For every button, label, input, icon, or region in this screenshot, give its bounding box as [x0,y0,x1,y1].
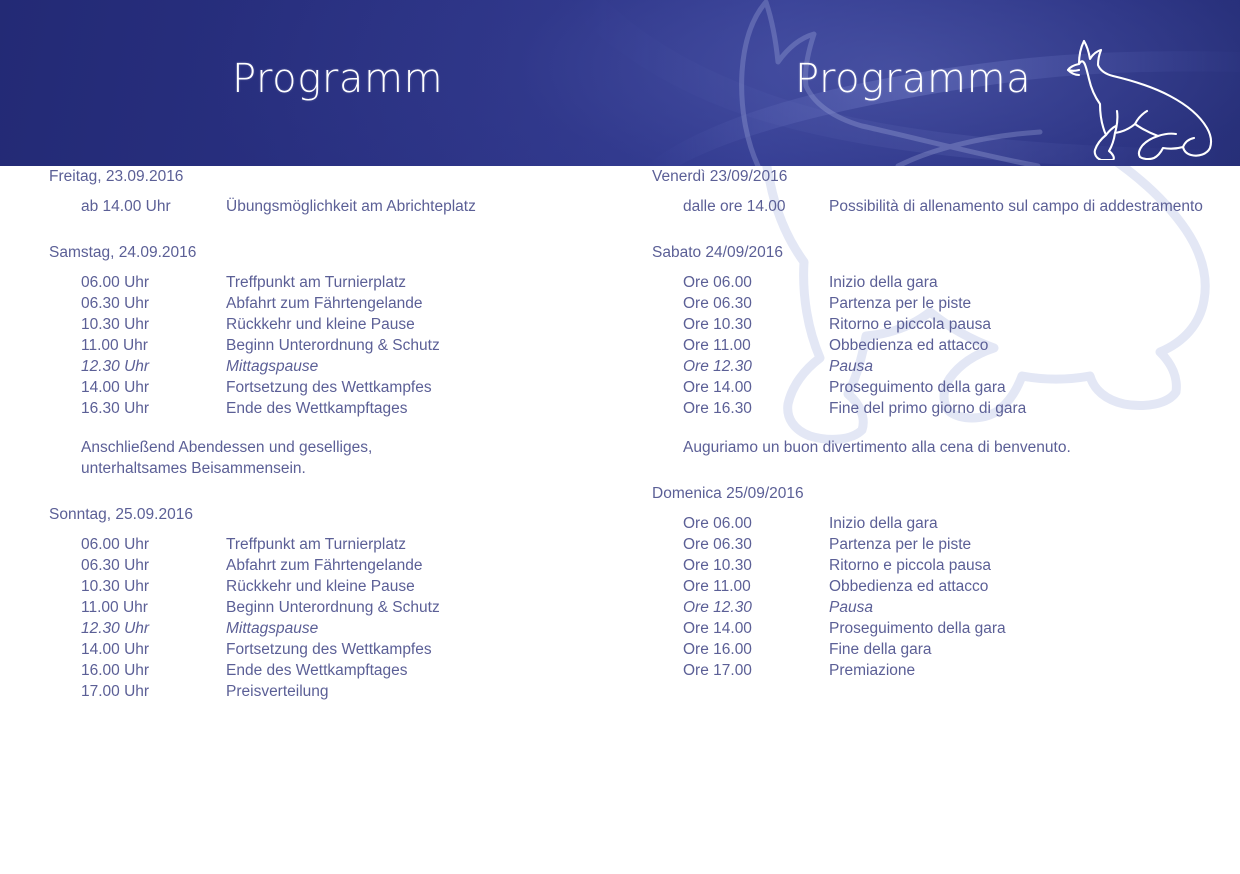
schedule-row-time: 12.30 Uhr [81,618,226,639]
schedule-row-time: 10.30 Uhr [81,576,226,597]
schedule-row: Ore 14.00Proseguimento della gara [652,618,1232,639]
schedule-row: Ore 06.30Partenza per le piste [652,534,1232,555]
schedule-row: Ore 06.30Partenza per le piste [652,293,1232,314]
german-saturday-rows: 06.00 UhrTreffpunkt am Turnierplatz06.30… [49,272,639,419]
schedule-row-description: Obbedienza ed attacco [829,576,1232,597]
german-shepherd-dog-icon [1046,38,1214,160]
german-friday-block: Freitag, 23.09.2016 ab 14.00 UhrÜbungsmö… [49,166,639,217]
schedule-row-time: 06.00 Uhr [81,272,226,293]
page-title-italian: Programma [795,56,1031,102]
german-sunday-heading: Sonntag, 25.09.2016 [49,504,639,525]
german-saturday-heading: Samstag, 24.09.2016 [49,242,639,263]
schedule-row-time: Ore 10.30 [683,555,829,576]
italian-friday-rows: dalle ore 14.00Possibilità di allenament… [652,196,1232,217]
italian-saturday-heading: Sabato 24/09/2016 [652,242,1232,263]
schedule-row-description: Pausa [829,597,1232,618]
schedule-row: 11.00 UhrBeginn Unterordnung & Schutz [49,597,639,618]
schedule-row-time: Ore 16.30 [683,398,829,419]
spacer [49,217,639,242]
program-content: Freitag, 23.09.2016 ab 14.00 UhrÜbungsmö… [0,166,1240,874]
schedule-row: 14.00 UhrFortsetzung des Wettkampfes [49,377,639,398]
schedule-row-description: Obbedienza ed attacco [829,335,1232,356]
schedule-row: dalle ore 14.00Possibilità di allenament… [652,196,1232,217]
schedule-row-description: Partenza per le piste [829,293,1232,314]
schedule-row: Ore 12.30Pausa [652,356,1232,377]
schedule-row-description: Mittagspause [226,356,639,377]
schedule-row-time: 06.00 Uhr [81,534,226,555]
schedule-row-description: Rückkehr und kleine Pause [226,576,639,597]
schedule-row-description: Abfahrt zum Fährtengelande [226,293,639,314]
schedule-row-time: Ore 12.30 [683,597,829,618]
schedule-row-description: Proseguimento della gara [829,618,1232,639]
schedule-row: Ore 06.00Inizio della gara [652,272,1232,293]
schedule-row: 12.30 UhrMittagspause [49,618,639,639]
schedule-row: Ore 10.30Ritorno e piccola pausa [652,314,1232,335]
schedule-row: 06.00 UhrTreffpunkt am Turnierplatz [49,534,639,555]
schedule-row-description: Rückkehr und kleine Pause [226,314,639,335]
schedule-row-time: Ore 06.00 [683,272,829,293]
schedule-row: Ore 11.00Obbedienza ed attacco [652,576,1232,597]
schedule-row: 12.30 UhrMittagspause [49,356,639,377]
schedule-row: 11.00 UhrBeginn Unterordnung & Schutz [49,335,639,356]
schedule-row-time: Ore 11.00 [683,576,829,597]
italian-saturday-block: Sabato 24/09/2016 Ore 06.00Inizio della … [652,242,1232,458]
schedule-row: Ore 11.00Obbedienza ed attacco [652,335,1232,356]
schedule-row-description: Fortsetzung des Wettkampfes [226,377,639,398]
schedule-row-description: Beginn Unterordnung & Schutz [226,597,639,618]
schedule-row-description: Treffpunkt am Turnierplatz [226,534,639,555]
schedule-row-description: Ritorno e piccola pausa [829,555,1232,576]
schedule-row-time: 06.30 Uhr [81,293,226,314]
schedule-row-time: Ore 16.00 [683,639,829,660]
schedule-row: 14.00 UhrFortsetzung des Wettkampfes [49,639,639,660]
schedule-row-time: Ore 14.00 [683,377,829,398]
german-saturday-note: Anschließend Abendessen und geselliges, … [81,437,421,479]
schedule-row-time: 11.00 Uhr [81,597,226,618]
spacer [652,419,1232,437]
spacer [49,419,639,437]
schedule-row-description: Premiazione [829,660,1232,681]
italian-friday-block: Venerdì 23/09/2016 dalle ore 14.00Possib… [652,166,1232,217]
schedule-row-time: Ore 17.00 [683,660,829,681]
schedule-row-time: 11.00 Uhr [81,335,226,356]
banner-dog-watermark-icon [0,0,1240,166]
schedule-row-description: Preisverteilung [226,681,639,702]
italian-saturday-note: Auguriamo un buon divertimento alla cena… [683,437,1232,458]
italian-saturday-rows: Ore 06.00Inizio della garaOre 06.30Parte… [652,272,1232,419]
schedule-row: 10.30 UhrRückkehr und kleine Pause [49,314,639,335]
schedule-row-time: 10.30 Uhr [81,314,226,335]
schedule-row-time: dalle ore 14.00 [683,196,829,217]
german-sunday-rows: 06.00 UhrTreffpunkt am Turnierplatz06.30… [49,534,639,702]
program-column-italian: Venerdì 23/09/2016 dalle ore 14.00Possib… [652,166,1232,681]
schedule-row: Ore 16.30Fine del primo giorno di gara [652,398,1232,419]
schedule-row: Ore 12.30Pausa [652,597,1232,618]
schedule-row-time: Ore 06.30 [683,534,829,555]
schedule-row-description: Beginn Unterordnung & Schutz [226,335,639,356]
schedule-row-time: ab 14.00 Uhr [81,196,226,217]
german-sunday-block: Sonntag, 25.09.2016 06.00 UhrTreffpunkt … [49,504,639,702]
schedule-row-time: Ore 12.30 [683,356,829,377]
german-saturday-block: Samstag, 24.09.2016 06.00 UhrTreffpunkt … [49,242,639,479]
schedule-row: Ore 14.00Proseguimento della gara [652,377,1232,398]
schedule-row-description: Abfahrt zum Fährtengelande [226,555,639,576]
spacer [49,479,639,504]
schedule-row-description: Fine del primo giorno di gara [829,398,1232,419]
schedule-row-time: Ore 10.30 [683,314,829,335]
schedule-row: Ore 06.00Inizio della gara [652,513,1232,534]
schedule-row: Ore 16.00Fine della gara [652,639,1232,660]
italian-friday-heading: Venerdì 23/09/2016 [652,166,1232,187]
page-title-german: Programm [232,56,443,102]
schedule-row: Ore 17.00Premiazione [652,660,1232,681]
schedule-row-time: 17.00 Uhr [81,681,226,702]
german-friday-rows: ab 14.00 UhrÜbungsmöglichkeit am Abricht… [49,196,639,217]
schedule-row: Ore 10.30Ritorno e piccola pausa [652,555,1232,576]
schedule-row-description: Ende des Wettkampftages [226,398,639,419]
schedule-row-description: Ritorno e piccola pausa [829,314,1232,335]
schedule-row-time: 16.30 Uhr [81,398,226,419]
schedule-row: 06.00 UhrTreffpunkt am Turnierplatz [49,272,639,293]
schedule-row-description: Inizio della gara [829,272,1232,293]
schedule-row-time: 12.30 Uhr [81,356,226,377]
spacer [652,217,1232,242]
schedule-row: ab 14.00 UhrÜbungsmöglichkeit am Abricht… [49,196,639,217]
german-friday-heading: Freitag, 23.09.2016 [49,166,639,187]
schedule-row-time: 14.00 Uhr [81,377,226,398]
schedule-row: 06.30 UhrAbfahrt zum Fährtengelande [49,293,639,314]
schedule-row-description: Fortsetzung des Wettkampfes [226,639,639,660]
schedule-row-time: Ore 06.00 [683,513,829,534]
schedule-row-description: Proseguimento della gara [829,377,1232,398]
schedule-row-description: Inizio della gara [829,513,1232,534]
schedule-row-description: Mittagspause [226,618,639,639]
schedule-row-description: Partenza per le piste [829,534,1232,555]
schedule-row-description: Ende des Wettkampftages [226,660,639,681]
schedule-row-time: 16.00 Uhr [81,660,226,681]
schedule-row-description: Übungsmöglichkeit am Abrichteplatz [226,196,639,217]
schedule-row: 17.00 UhrPreisverteilung [49,681,639,702]
schedule-row-description: Pausa [829,356,1232,377]
italian-sunday-block: Domenica 25/09/2016 Ore 06.00Inizio dell… [652,483,1232,681]
page-header-banner: Programm Programma [0,0,1240,166]
schedule-row-time: 06.30 Uhr [81,555,226,576]
italian-sunday-heading: Domenica 25/09/2016 [652,483,1232,504]
banner-swoosh-decoration [0,0,1240,166]
schedule-row-time: Ore 11.00 [683,335,829,356]
schedule-row-time: Ore 14.00 [683,618,829,639]
schedule-row: 16.00 UhrEnde des Wettkampftages [49,660,639,681]
schedule-row: 16.30 UhrEnde des Wettkampftages [49,398,639,419]
program-column-german: Freitag, 23.09.2016 ab 14.00 UhrÜbungsmö… [49,166,639,702]
schedule-row-description: Treffpunkt am Turnierplatz [226,272,639,293]
schedule-row-description: Fine della gara [829,639,1232,660]
schedule-row-time: 14.00 Uhr [81,639,226,660]
schedule-row-description: Possibilità di allenamento sul campo di … [829,196,1232,217]
italian-sunday-rows: Ore 06.00Inizio della garaOre 06.30Parte… [652,513,1232,681]
schedule-row-time: Ore 06.30 [683,293,829,314]
spacer [652,458,1232,483]
schedule-row: 06.30 UhrAbfahrt zum Fährtengelande [49,555,639,576]
schedule-row: 10.30 UhrRückkehr und kleine Pause [49,576,639,597]
